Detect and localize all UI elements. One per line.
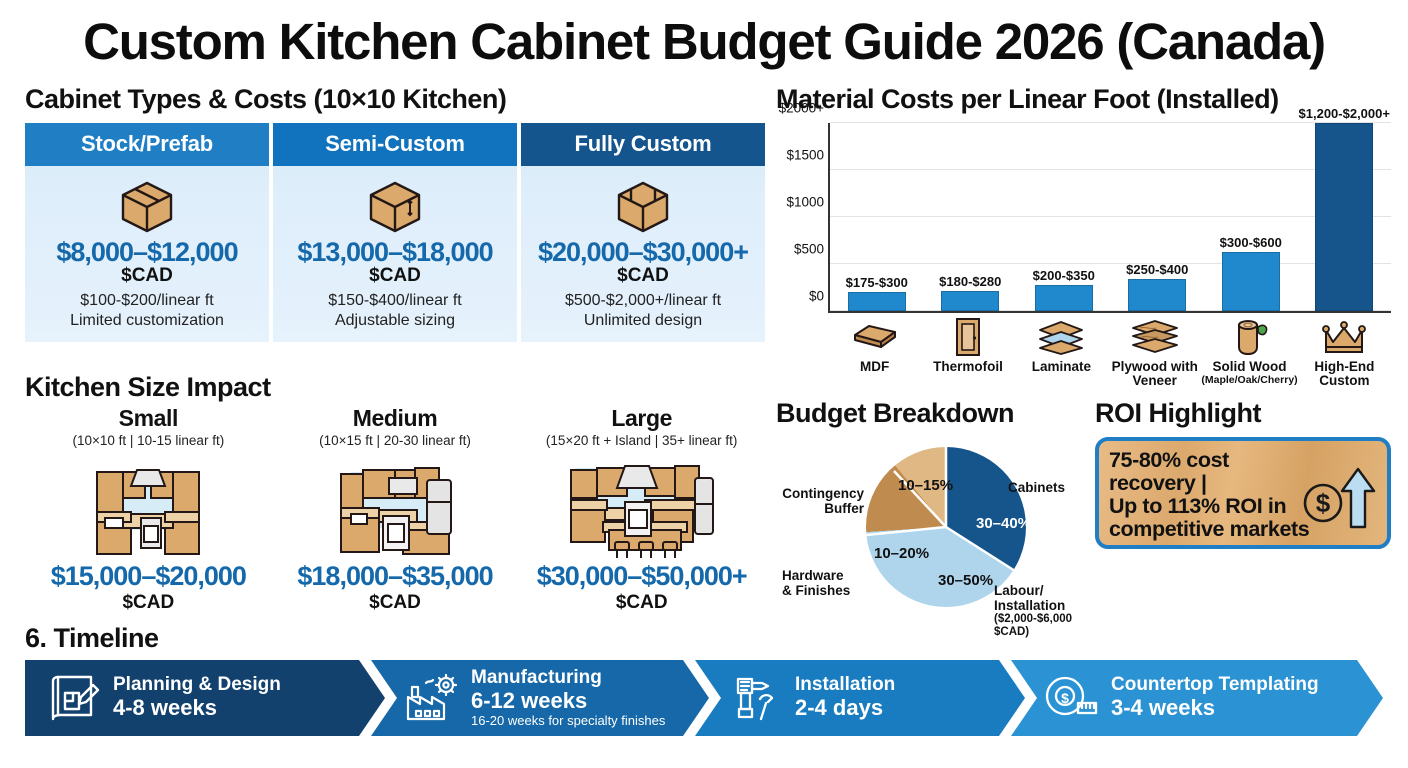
kitchen-size-currency: $CAD — [25, 592, 272, 614]
timeline-step-planning[interactable]: Planning & Design 4-8 weeks — [25, 660, 385, 736]
kitchen-size-price: $18,000–$35,000 — [272, 561, 519, 592]
bar-value-label: $175-$300 — [846, 275, 908, 290]
cabinet-card-header: Stock/Prefab — [25, 123, 269, 166]
pie-annotation-hardware-line1: Hardware — [782, 569, 868, 584]
timeline-step-duration: 4-8 weeks — [113, 696, 281, 721]
tree-stump-icon — [1201, 316, 1297, 358]
pie-annotation-labour-line2: Installation — [994, 599, 1088, 614]
bar: $180-$280 — [941, 291, 999, 311]
timeline-step-text: Installation 2-4 days — [795, 675, 895, 721]
kitchen-size-currency: $CAD — [518, 592, 765, 614]
bar-column: $300-$600 — [1204, 123, 1298, 311]
timeline-step-text: Planning & Design 4-8 weeks — [113, 675, 281, 721]
page-title: Custom Kitchen Cabinet Budget Guide 2026… — [0, 12, 1408, 71]
cabinet-card-currency: $CAD — [31, 265, 263, 287]
pie-annotation-contingency-line2: Buffer — [778, 502, 864, 517]
roi-box: $ 75-80% cost recovery | Up to 113% ROI … — [1095, 437, 1391, 549]
drill-hammer-icon — [725, 669, 787, 727]
kitchen-size-spec: (15×20 ft + Island | 35+ linear ft) — [518, 433, 765, 448]
timeline-step-title: Installation — [795, 675, 895, 696]
pie-annotation-hardware-line2: & Finishes — [782, 584, 868, 599]
kitchen-size-currency: $CAD — [272, 592, 519, 614]
cabinet-types-section: Cabinet Types & Costs (10×10 Kitchen) St… — [25, 84, 765, 342]
cardboard-box-icon — [527, 176, 759, 238]
cardboard-box-icon — [279, 176, 511, 238]
thermofoil-door-icon — [921, 316, 1014, 358]
kitchen-size-price: $30,000–$50,000+ — [518, 561, 765, 592]
cabinet-card-per-foot: $500-$2,000+/linear ft — [527, 292, 759, 310]
x-category-sublabel: (Maple/Oak/Cherry) — [1201, 374, 1297, 386]
bar-value-label: $250-$400 — [1126, 262, 1188, 277]
kitchen-size-medium: Medium (10×15 ft | 20-30 linear ft) — [272, 405, 519, 614]
bar: $250-$400 — [1128, 279, 1186, 311]
kitchen-size-price: $15,000–$20,000 — [25, 561, 272, 592]
pie-slice-label-contingency: 10–15% — [898, 477, 953, 494]
pie-annotation-cabinets: Cabinets — [1008, 481, 1065, 496]
material-costs-chart: Material Costs per Linear Foot (Installe… — [776, 84, 1391, 388]
cabinet-card-fully-custom: Fully Custom $20,000–$30,000+ $CAD $500-… — [521, 123, 765, 342]
kitchen-size-large: Large (15×20 ft + Island | 35+ linear ft… — [518, 405, 765, 614]
timeline-step-note: 16-20 weeks for specialty finishes — [471, 714, 665, 728]
x-category-label: Plywood with Veneer — [1108, 360, 1201, 388]
cabinet-card-header: Fully Custom — [521, 123, 765, 166]
plywood-stack-icon — [1108, 316, 1201, 358]
pie-annotation-hardware: Hardware & Finishes — [782, 569, 868, 598]
roi-heading: ROI Highlight — [1095, 398, 1391, 429]
kitchen-size-spec: (10×10 ft | 10-15 linear ft) — [25, 433, 272, 448]
bar-column: $180-$280 — [924, 123, 1018, 311]
bar-chart-x-axis: MDF Thermofoil Laminate Plywood with Ven… — [828, 316, 1391, 388]
crown-icon — [1298, 316, 1391, 358]
x-category-mdf: MDF — [828, 316, 921, 388]
budget-breakdown-chart: Budget Breakdown 30–40% 30–50% 10–20% 10… — [776, 398, 1088, 619]
cabinet-card-per-foot: $100-$200/linear ft — [31, 292, 263, 310]
pie-slice-label-labour: 30–50% — [938, 572, 993, 589]
budget-breakdown-heading: Budget Breakdown — [776, 398, 1088, 429]
timeline-step-title: Manufacturing — [471, 668, 665, 689]
timeline-step-duration: 3-4 weeks — [1111, 696, 1319, 721]
cabinet-type-cards: Stock/Prefab $8,000–$12,000 $CAD $100-$2… — [25, 123, 765, 342]
cabinet-card-price: $8,000–$12,000 — [31, 238, 263, 266]
cabinet-card-header: Semi-Custom — [273, 123, 517, 166]
mdf-board-icon — [828, 316, 921, 358]
roi-highlight-section: ROI Highlight $ 75-80% cost recovery | U… — [1095, 398, 1391, 549]
cabinet-card-per-foot: $150-$400/linear ft — [279, 292, 511, 310]
timeline-step-duration: 6-12 weeks — [471, 689, 665, 714]
bar: $1,200-$2,000+ — [1315, 123, 1373, 311]
bar-column: $1,200-$2,000+ — [1298, 123, 1392, 311]
tape-measure-icon: $ — [1041, 669, 1103, 727]
cabinet-card-body: $8,000–$12,000 $CAD $100-$200/linear ft … — [25, 166, 269, 342]
bar-value-label: $180-$280 — [939, 274, 1001, 289]
laminate-layers-icon — [1015, 316, 1108, 358]
infographic-page: Custom Kitchen Cabinet Budget Guide 2026… — [0, 0, 1408, 768]
y-tick-label: $500 — [794, 242, 824, 257]
y-tick-label: $2000+ — [779, 101, 824, 116]
bar-value-label: $200-$350 — [1033, 268, 1095, 283]
kitchen-size-spec: (10×15 ft | 20-30 linear ft) — [272, 433, 519, 448]
x-category-label: Laminate — [1015, 360, 1108, 374]
pie-annotation-contingency-line1: Contingency — [778, 487, 864, 502]
small-u-kitchen-icon — [25, 450, 272, 558]
blueprint-pencil-icon — [43, 669, 105, 727]
x-category-plywood: Plywood with Veneer — [1108, 316, 1201, 388]
x-category-label: Thermofoil — [921, 360, 1014, 374]
cabinet-card-stock: Stock/Prefab $8,000–$12,000 $CAD $100-$2… — [25, 123, 269, 342]
cabinet-card-body: $20,000–$30,000+ $CAD $500-$2,000+/linea… — [521, 166, 765, 342]
kitchen-size-heading: Kitchen Size Impact — [25, 372, 765, 403]
kitchen-size-title: Small — [25, 405, 272, 432]
kitchen-size-section: Kitchen Size Impact Small (10×10 ft | 10… — [25, 372, 765, 614]
pie-slice-label-cabinets: 30–40% — [976, 515, 1031, 532]
x-category-label: MDF — [828, 360, 921, 374]
cabinet-card-note: Limited customization — [31, 312, 263, 330]
cabinet-card-note: Unlimited design — [527, 312, 759, 330]
cabinet-card-currency: $CAD — [527, 265, 759, 287]
bar-value-label: $300-$600 — [1220, 235, 1282, 250]
factory-gear-icon — [401, 669, 463, 727]
timeline-step-text: Countertop Templating 3-4 weeks — [1111, 675, 1319, 721]
timeline-section: 6. Timeline Planning & Design 4-8 weeks — [25, 623, 1383, 736]
x-category-high-end: High-End Custom — [1298, 316, 1391, 388]
bar: $200-$350 — [1035, 285, 1093, 311]
timeline-step-installation[interactable]: Installation 2-4 days — [695, 660, 1025, 736]
x-category-label: High-End Custom — [1298, 360, 1391, 388]
bar: $300-$600 — [1222, 252, 1280, 311]
timeline-step-title: Countertop Templating — [1111, 675, 1319, 696]
bar-column: $250-$400 — [1111, 123, 1205, 311]
y-tick-label: $1000 — [786, 195, 824, 210]
cabinet-card-price: $13,000–$18,000 — [279, 238, 511, 266]
cabinet-card-price: $20,000–$30,000+ — [527, 238, 759, 266]
svg-text:$: $ — [1316, 488, 1331, 518]
dollar-coin-up-arrow-icon: $ — [1293, 451, 1379, 542]
bar-value-label: $1,200-$2,000+ — [1299, 106, 1390, 121]
timeline-step-duration: 2-4 days — [795, 696, 895, 721]
svg-text:$: $ — [1061, 690, 1069, 706]
timeline-steps: Planning & Design 4-8 weeks M — [25, 660, 1383, 736]
pie-annotation-labour-line1: Labour/ — [994, 584, 1088, 599]
bar-chart-plot: $0 $500 $1000 $1500 $2000+ $175-$300 $18… — [828, 123, 1391, 313]
pie-annotation-contingency: Contingency Buffer — [778, 487, 864, 516]
cardboard-box-icon — [31, 176, 263, 238]
kitchen-size-title: Large — [518, 405, 765, 432]
x-category-solid-wood: Solid Wood (Maple/Oak/Cherry) — [1201, 316, 1297, 388]
large-island-kitchen-icon — [518, 450, 765, 558]
bar-column: $175-$300 — [830, 123, 924, 311]
pie-slice-label-hardware: 10–20% — [874, 545, 929, 562]
cabinet-card-semi-custom: Semi-Custom $13,000–$18,000 $CAD $150-$4… — [273, 123, 517, 342]
x-category-laminate: Laminate — [1015, 316, 1108, 388]
bar: $175-$300 — [848, 292, 906, 311]
timeline-step-manufacturing[interactable]: Manufacturing 6-12 weeks 16-20 weeks for… — [371, 660, 709, 736]
pie-chart: 30–40% 30–50% 10–20% 10–15% Cabinets Lab… — [776, 429, 1088, 619]
y-tick-label: $0 — [809, 289, 824, 304]
medium-kitchen-icon — [272, 450, 519, 558]
timeline-step-title: Planning & Design — [113, 675, 281, 696]
x-category-thermofoil: Thermofoil — [921, 316, 1014, 388]
cabinet-card-note: Adjustable sizing — [279, 312, 511, 330]
kitchen-size-small: Small (10×10 ft | 10-15 linear ft) — [25, 405, 272, 614]
cabinet-types-heading: Cabinet Types & Costs (10×10 Kitchen) — [25, 84, 765, 115]
bar-series: $175-$300 $180-$280 $200-$350 $250-$400 — [830, 123, 1391, 311]
bar-column: $200-$350 — [1017, 123, 1111, 311]
x-category-label: Solid Wood — [1201, 360, 1297, 374]
timeline-step-text: Manufacturing 6-12 weeks 16-20 weeks for… — [471, 668, 665, 728]
cabinet-card-body: $13,000–$18,000 $CAD $150-$400/linear ft… — [273, 166, 517, 342]
timeline-step-countertop[interactable]: $ Countertop Templating 3-4 weeks — [1011, 660, 1383, 736]
cabinet-card-currency: $CAD — [279, 265, 511, 287]
timeline-heading: 6. Timeline — [25, 623, 1383, 654]
y-tick-label: $1500 — [786, 148, 824, 163]
kitchen-size-items: Small (10×10 ft | 10-15 linear ft) — [25, 405, 765, 614]
kitchen-size-title: Medium — [272, 405, 519, 432]
